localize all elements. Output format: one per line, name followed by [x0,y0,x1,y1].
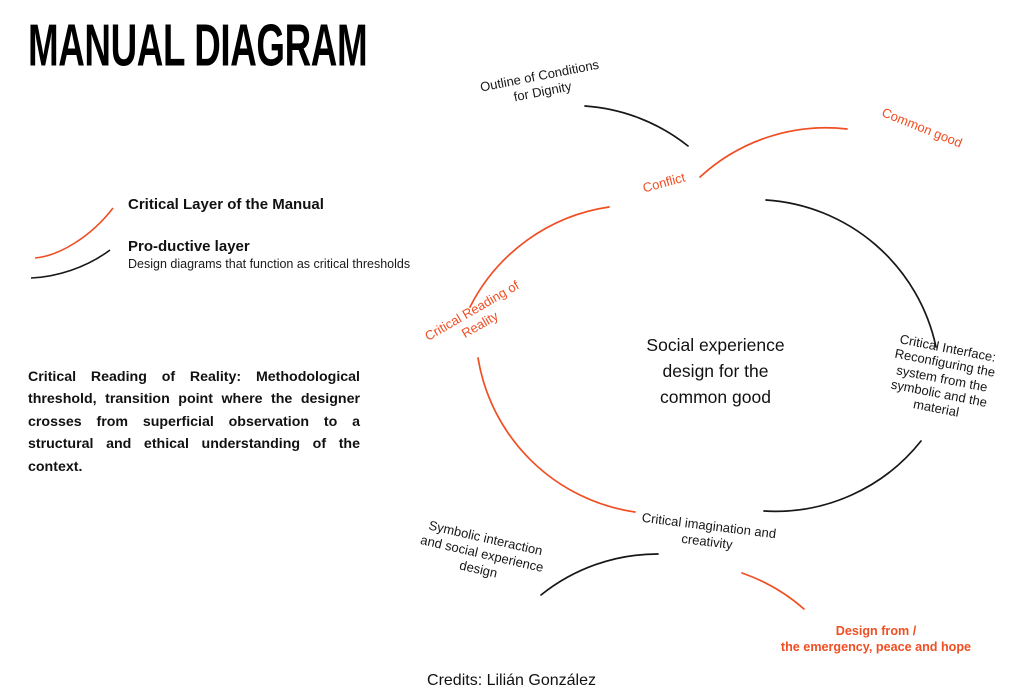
arc-outline-to-conflict [585,106,688,146]
arc-imagination-to-design-from-emergency [742,573,804,609]
credits: Credits: Lilián González [0,672,1023,690]
circular-diagram: Outline of Conditions for Dignity Confli… [0,0,1023,697]
arc-conflict-to-common-good [700,128,847,177]
node-label-design-from-emergency-peace-and-hope: Design from / the emergency, peace and h… [770,623,982,656]
arc-common-good-to-critical-interface [766,200,936,347]
arc-critical-reading-to-imagination [478,358,635,512]
diagram-center-label: Social experience design for the common … [618,333,813,411]
arc-critical-interface-to-imagination [764,441,921,511]
arc-symbolic-interaction-to-imagination [541,554,658,595]
